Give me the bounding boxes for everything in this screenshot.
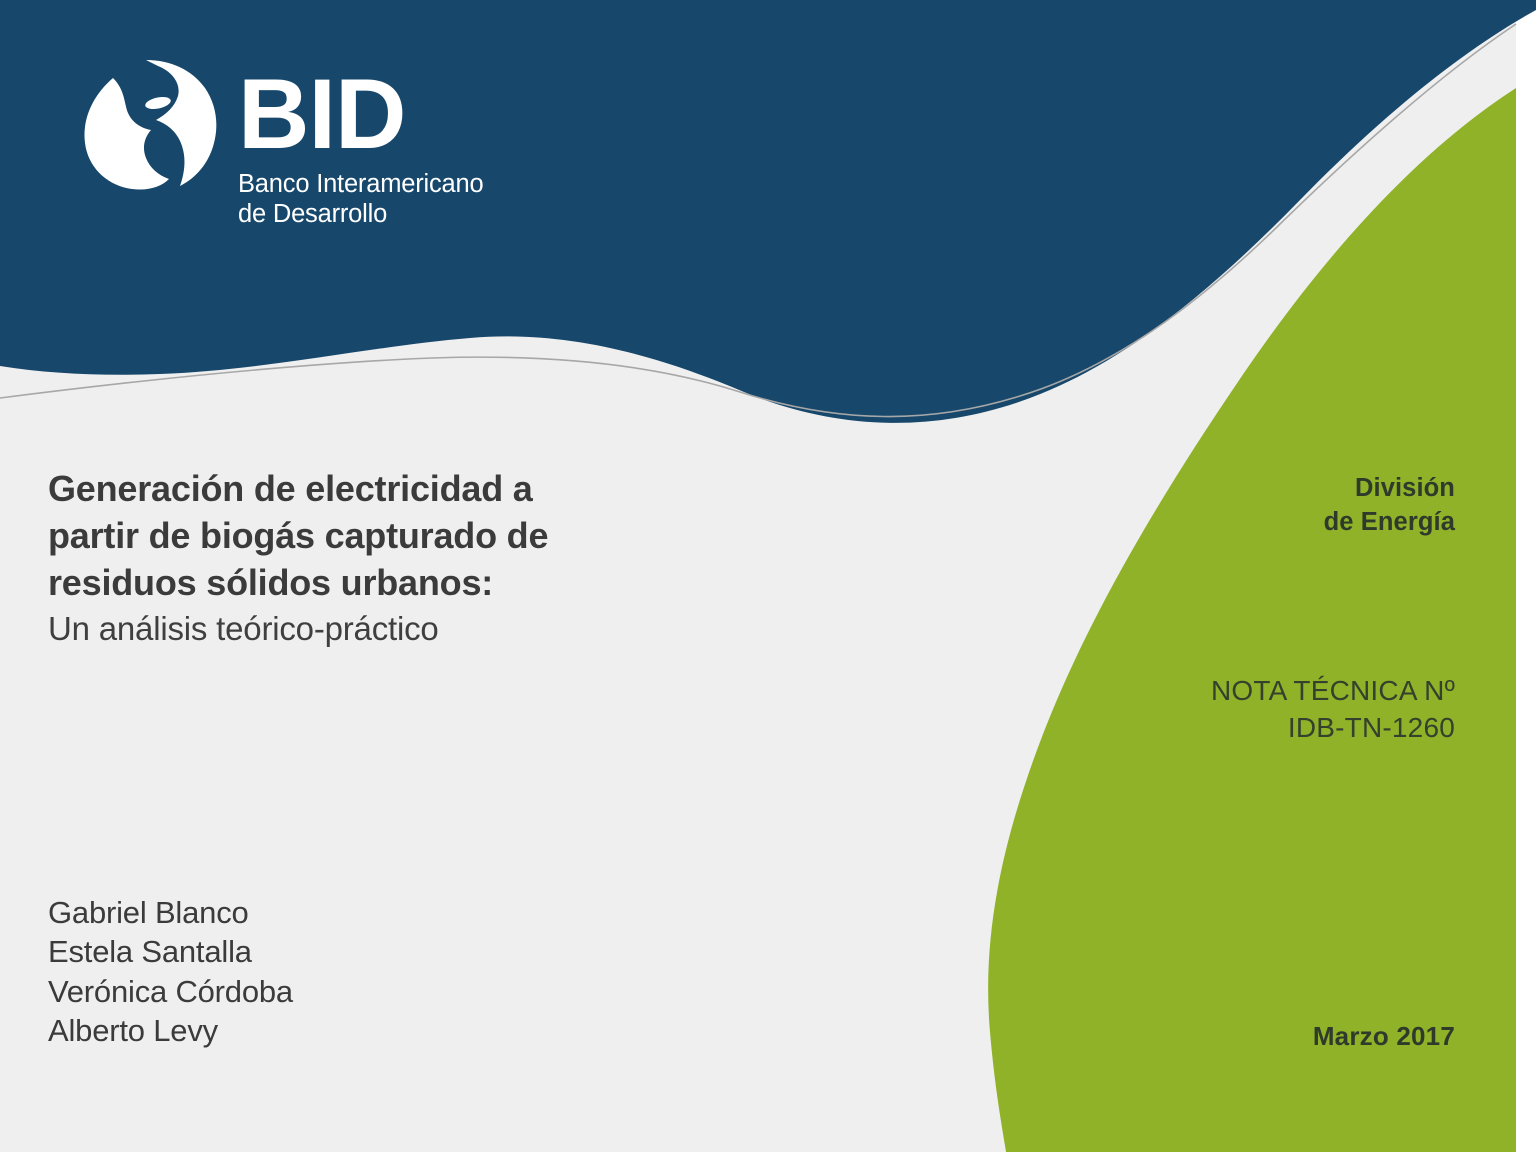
publication-date: Marzo 2017 — [1313, 1021, 1455, 1052]
author-name: Verónica Córdoba — [48, 972, 293, 1011]
author-name: Gabriel Blanco — [48, 893, 293, 932]
bid-institution-name: Banco Interamericano de Desarrollo — [238, 169, 483, 229]
author-list: Gabriel Blanco Estela Santalla Verónica … — [48, 893, 293, 1050]
document-title: Generación de electricidad a partir de b… — [48, 466, 708, 606]
bid-acronym: BID — [238, 72, 483, 155]
bid-logo: BID Banco Interamericano de Desarrollo — [72, 58, 483, 229]
division-line-1: División — [1324, 472, 1455, 506]
title-block: Generación de electricidad a partir de b… — [48, 466, 708, 651]
document-subtitle: Un análisis teórico-práctico — [48, 608, 708, 651]
date-text: Marzo 2017 — [1313, 1021, 1455, 1052]
bid-wordmark: BID Banco Interamericano de Desarrollo — [238, 58, 483, 229]
series-label: NOTA TÉCNICA Nº — [1211, 672, 1455, 709]
publication-number: IDB-TN-1260 — [1211, 709, 1455, 746]
division-line-2: de Energía — [1324, 506, 1455, 540]
title-line-3: residuos sólidos urbanos: — [48, 560, 708, 607]
institution-line-1: Banco Interamericano — [238, 169, 483, 199]
division-block: División de Energía — [1324, 472, 1455, 540]
title-line-1: Generación de electricidad a — [48, 466, 708, 513]
author-name: Estela Santalla — [48, 932, 293, 971]
cover-page: BID Banco Interamericano de Desarrollo G… — [0, 0, 1536, 1152]
author-name: Alberto Levy — [48, 1011, 293, 1050]
right-margin-strip — [1516, 0, 1536, 1152]
title-line-2: partir de biogás capturado de — [48, 513, 708, 560]
institution-line-2: de Desarrollo — [238, 199, 483, 229]
publication-reference: NOTA TÉCNICA Nº IDB-TN-1260 — [1211, 672, 1455, 746]
bid-globe-americas-logo-icon — [72, 58, 220, 198]
